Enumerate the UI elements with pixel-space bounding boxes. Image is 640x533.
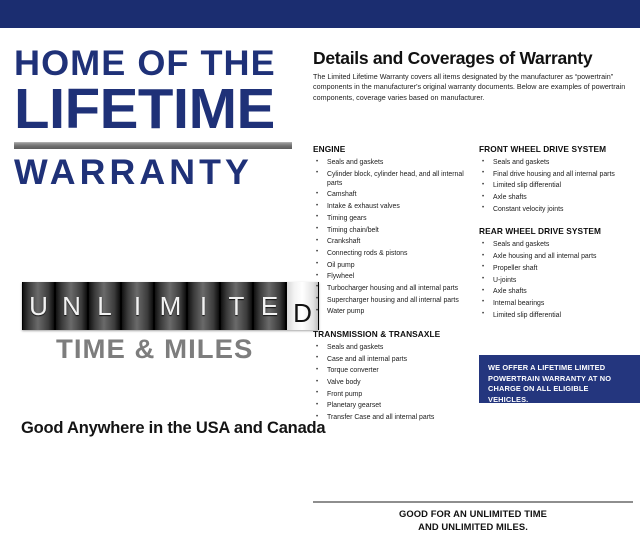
offer-callout-text: WE OFFER A LIFETIME LIMITED POWERTRAIN W… (488, 363, 631, 405)
section-title-engine: ENGINE (313, 144, 476, 154)
section-title-transmission: TRANSMISSION & TRANSAXLE (313, 329, 476, 339)
list-item: Seals and gaskets (479, 240, 640, 249)
section-transmission: TRANSMISSION & TRANSAXLE Seals and gaske… (313, 329, 476, 422)
list-item: Axle shafts (479, 287, 640, 296)
odometer-unlimited-graphic: U N L I M I T E D (22, 282, 319, 330)
coverage-column-left: ENGINE Seals and gaskets Cylinder block,… (313, 144, 476, 425)
list-item: Limited slip differential (479, 311, 640, 320)
list-item: Turbocharger housing and all internal pa… (313, 284, 476, 293)
list-item: Propeller shaft (479, 264, 640, 273)
odometer-tile-letter: I (200, 293, 207, 319)
odometer-tile-6: I (187, 282, 220, 330)
list-item: Axle shafts (479, 193, 640, 202)
list-item: Flywheel (313, 272, 476, 281)
details-title: Details and Coverages of Warranty (313, 48, 592, 69)
section-engine: ENGINE Seals and gaskets Cylinder block,… (313, 144, 476, 316)
top-blue-band (0, 0, 640, 28)
list-item: Supercharger housing and all internal pa… (313, 296, 476, 305)
coverage-column-right: FRONT WHEEL DRIVE SYSTEM Seals and gaske… (479, 144, 640, 322)
right-details-panel: Details and Coverages of Warranty The Li… (313, 28, 640, 426)
offer-callout-box: WE OFFER A LIFETIME LIMITED POWERTRAIN W… (479, 355, 640, 403)
odometer-tile-2: N (55, 282, 88, 330)
list-item: Cylinder block, cylinder head, and all i… (313, 170, 476, 188)
headline-divider-bar (14, 142, 292, 149)
closing-divider-rule (313, 501, 633, 503)
odometer-tile-4: I (121, 282, 154, 330)
list-item: Axle housing and all internal parts (479, 252, 640, 261)
odometer-tile-letter: U (29, 293, 48, 319)
list-item: Water pump (313, 307, 476, 316)
closing-line-2: AND UNLIMITED MILES. (313, 521, 633, 533)
list-item: Intake & exhaust valves (313, 202, 476, 211)
list-item: Planetary gearset (313, 401, 476, 410)
list-item: Constant velocity joints (479, 205, 640, 214)
section-spacer (313, 319, 476, 329)
list-item: Seals and gaskets (479, 158, 640, 167)
list-item: Valve body (313, 378, 476, 387)
list-item: Internal bearings (479, 299, 640, 308)
odometer-tile-letter: T (229, 293, 245, 319)
list-item: Front pump (313, 390, 476, 399)
odometer-tile-7: T (220, 282, 253, 330)
odometer-tile-letter: E (261, 293, 278, 319)
odometer-tile-letter: L (97, 293, 111, 319)
headline-line-2: LIFETIME (14, 80, 300, 138)
list-item: Final drive housing and all internal par… (479, 170, 640, 179)
odometer-tile-5: M (154, 282, 187, 330)
odometer-tile-3: L (88, 282, 121, 330)
details-intro-paragraph: The Limited Lifetime Warranty covers all… (313, 72, 631, 103)
list-item: Connecting rods & pistons (313, 249, 476, 258)
closing-statement: GOOD FOR AN UNLIMITED TIME AND UNLIMITED… (313, 508, 633, 533)
list-item: Timing chain/belt (313, 226, 476, 235)
list-item: Torque converter (313, 366, 476, 375)
odometer-tile-1: U (22, 282, 55, 330)
section-title-rear-wheel-drive: REAR WHEEL DRIVE SYSTEM (479, 226, 640, 236)
section-rear-wheel-drive: REAR WHEEL DRIVE SYSTEM Seals and gasket… (479, 226, 640, 319)
list-item: Seals and gaskets (313, 158, 476, 167)
list-item: Case and all internal parts (313, 355, 476, 364)
time-and-miles-subtitle: TIME & MILES (56, 334, 253, 365)
section-spacer (479, 216, 640, 226)
list-front-wheel-drive: Seals and gaskets Final drive housing an… (479, 158, 640, 214)
list-engine: Seals and gaskets Cylinder block, cylind… (313, 158, 476, 316)
warranty-advertisement: HOME OF THE LIFETIME WARRANTY U N L I M … (0, 0, 640, 426)
odometer-tile-letter: D (293, 300, 312, 326)
headline-line-3: WARRANTY (14, 154, 300, 192)
list-item: Crankshaft (313, 237, 476, 246)
closing-line-1: GOOD FOR AN UNLIMITED TIME (313, 508, 633, 521)
list-item: Limited slip differential (479, 181, 640, 190)
list-item: Timing gears (313, 214, 476, 223)
odometer-tile-letter: N (62, 293, 81, 319)
hero-headline: HOME OF THE LIFETIME WARRANTY (14, 46, 294, 192)
list-item: Oil pump (313, 261, 476, 270)
left-branding-panel: HOME OF THE LIFETIME WARRANTY U N L I M … (0, 28, 305, 426)
section-title-front-wheel-drive: FRONT WHEEL DRIVE SYSTEM (479, 144, 640, 154)
list-item: Seals and gaskets (313, 343, 476, 352)
list-item: Camshaft (313, 190, 476, 199)
odometer-tile-8: E (253, 282, 286, 330)
list-item: U-joints (479, 276, 640, 285)
odometer-tile-letter: M (160, 293, 182, 319)
section-front-wheel-drive: FRONT WHEEL DRIVE SYSTEM Seals and gaske… (479, 144, 640, 214)
list-item: Transfer Case and all internal parts (313, 413, 476, 422)
odometer-tile-letter: I (134, 293, 141, 319)
coverage-area-tagline: Good Anywhere in the USA and Canada (21, 419, 325, 438)
list-rear-wheel-drive: Seals and gaskets Axle housing and all i… (479, 240, 640, 319)
list-transmission: Seals and gaskets Case and all internal … (313, 343, 476, 422)
